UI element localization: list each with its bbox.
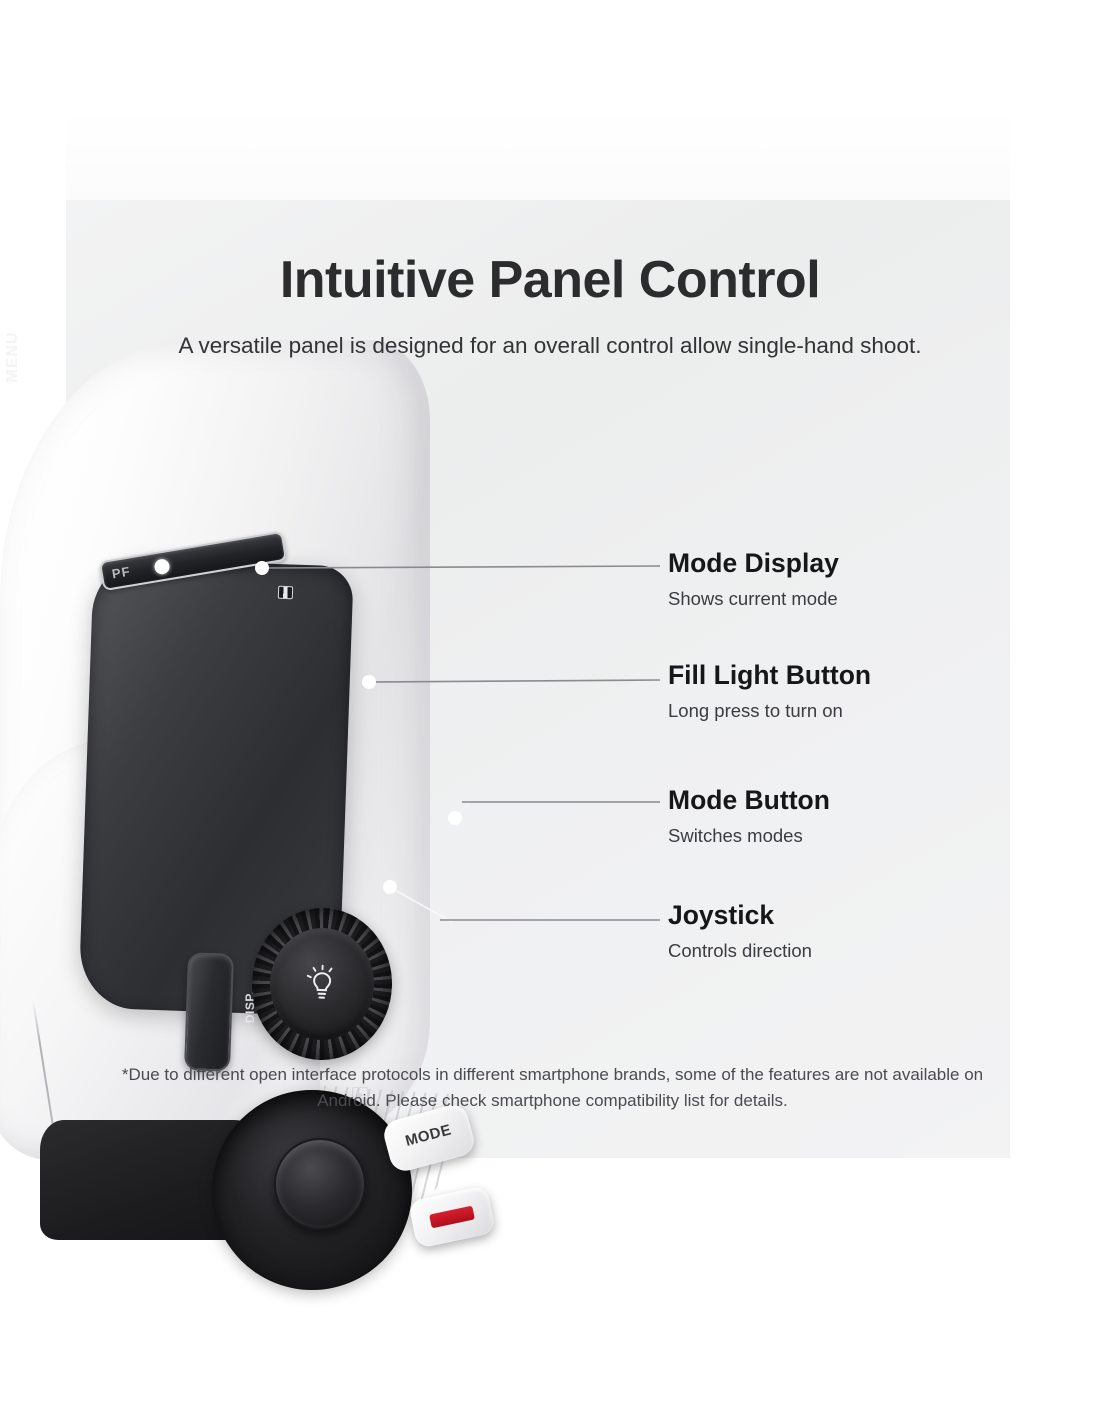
leader-line-fill-light (372, 680, 660, 682)
leader-line-joystick-diagonal (393, 889, 452, 922)
leader-dot-fill-light (362, 675, 376, 689)
callout-mode-button: Mode Button Switches modes (668, 785, 830, 847)
callout-description: Shows current mode (668, 588, 839, 610)
callout-fill-light-button: Fill Light Button Long press to turn on (668, 660, 871, 722)
infographic-root: PF MENU DISP. (0, 0, 1100, 1422)
callout-joystick: Joystick Controls direction (668, 900, 812, 962)
leader-lines (0, 0, 1100, 1422)
leader-dot-mode-button (448, 811, 462, 825)
callout-title: Joystick (668, 900, 812, 930)
leader-dot-mode-display (255, 561, 269, 575)
callout-title: Fill Light Button (668, 660, 871, 690)
page-subtitle: A versatile panel is designed for an ove… (0, 333, 1100, 359)
callout-title: Mode Button (668, 785, 830, 815)
callout-description: Long press to turn on (668, 700, 871, 722)
leader-dot-joystick (383, 880, 397, 894)
callout-description: Controls direction (668, 940, 812, 962)
callout-mode-display: Mode Display Shows current mode (668, 548, 839, 610)
footnote-disclaimer: *Due to different open interface protoco… (110, 1062, 995, 1114)
page-title: Intuitive Panel Control (0, 250, 1100, 310)
leader-line-mode-display (265, 566, 660, 568)
callout-title: Mode Display (668, 548, 839, 578)
callout-description: Switches modes (668, 825, 830, 847)
